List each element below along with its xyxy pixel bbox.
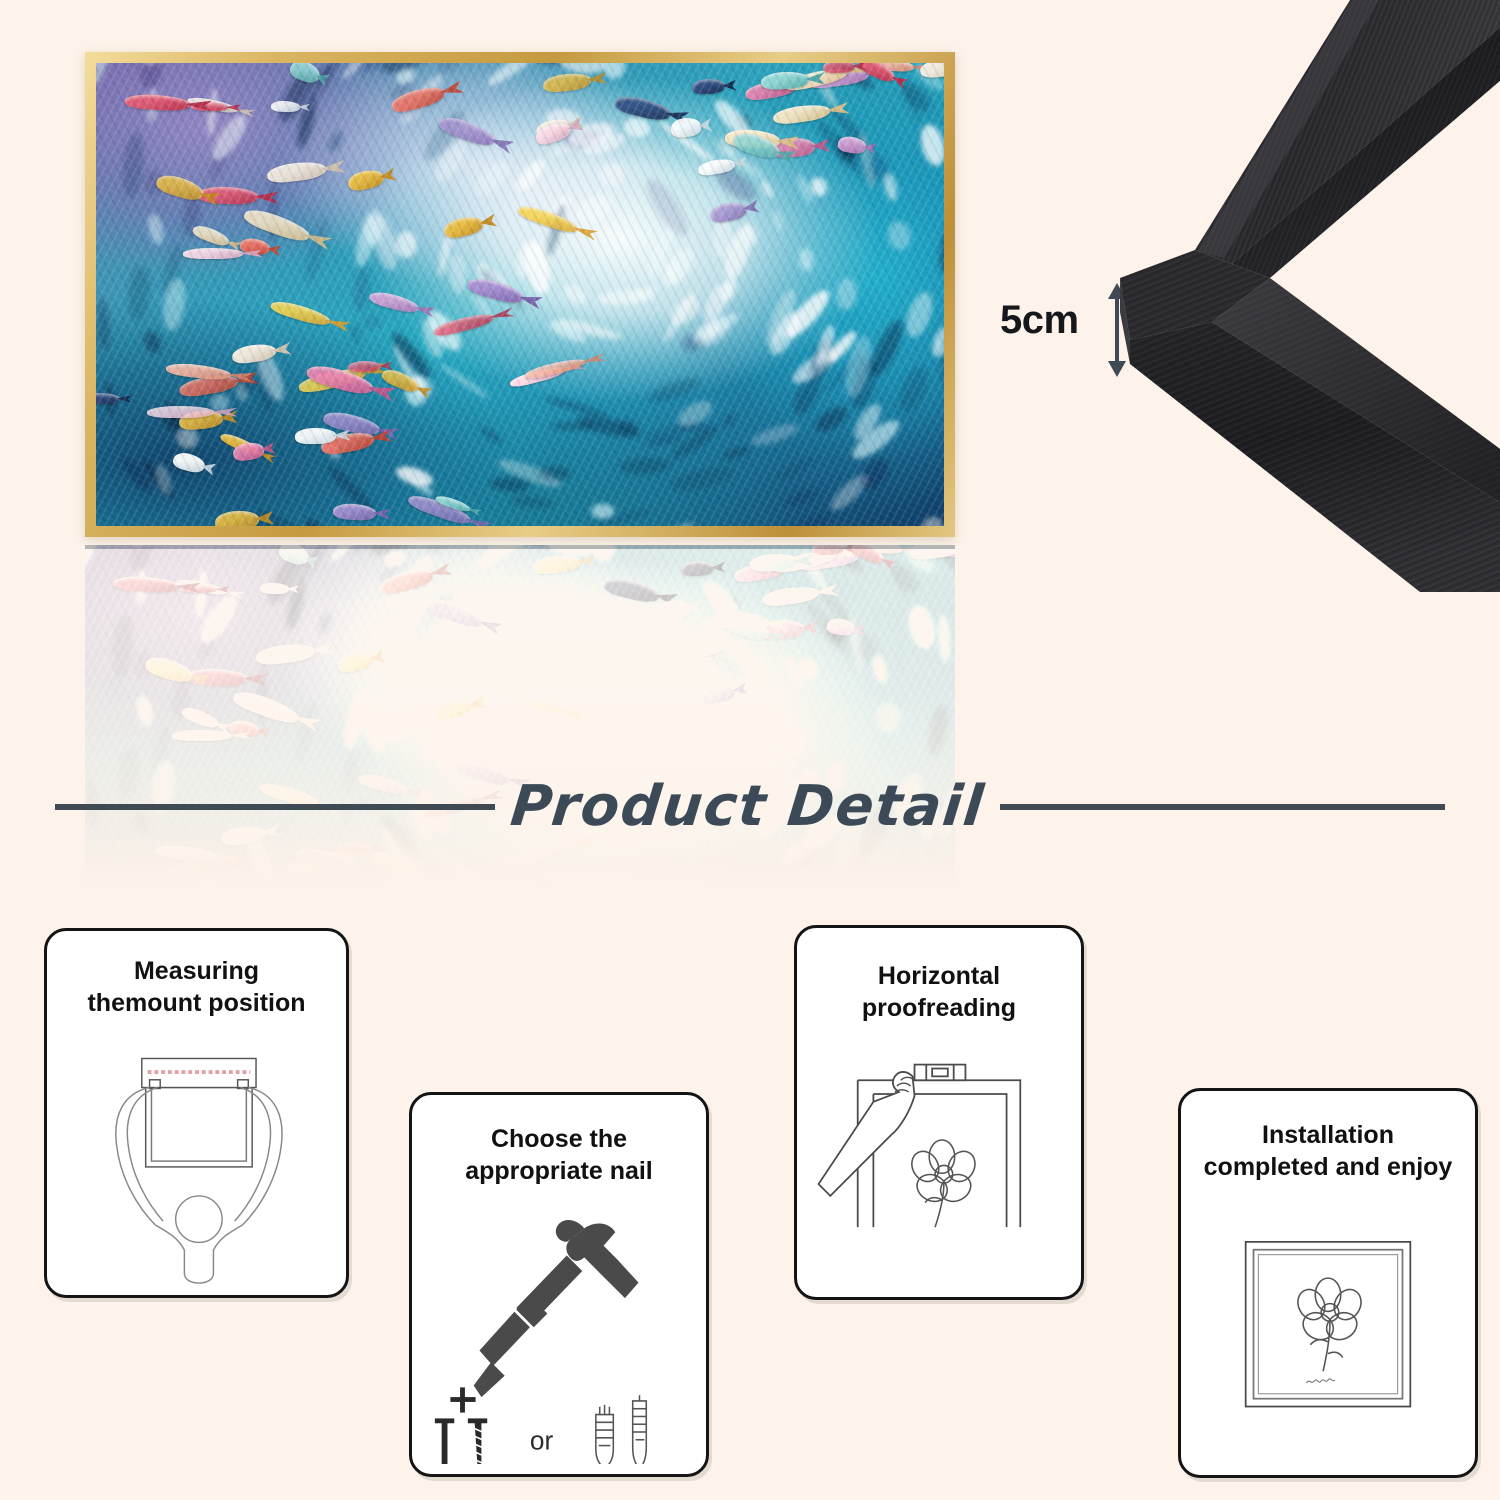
canvas-texture: [96, 63, 944, 526]
instruction-card-title: Installation completed and enjoy: [1181, 1091, 1475, 1183]
framed-flower-artwork-icon: [1181, 1203, 1475, 1465]
artwork-canvas: [96, 63, 944, 526]
framed-artwork: [85, 52, 955, 537]
heading-rule-left: [55, 804, 495, 810]
hero-product-section: 5cm: [0, 0, 1500, 900]
page-title: Product Detail: [508, 779, 987, 835]
instruction-card-title: Horizontal proofreading: [797, 928, 1081, 1024]
instruction-card-title: Choose the appropriate nail: [412, 1095, 706, 1187]
instruction-card-title: Measuring themount position: [47, 931, 346, 1019]
person-measuring-frame-icon: [47, 1043, 346, 1285]
black-wood-frame-corner: [1120, 0, 1500, 592]
hand-with-level-on-frame-icon: [797, 1040, 1081, 1287]
instruction-card-proofreading: Horizontal proofreading: [794, 925, 1084, 1300]
instruction-card-nail: Choose the appropriate nail: [409, 1092, 709, 1477]
product-detail-heading: Product Detail: [0, 772, 1500, 842]
heading-rule-right: [1000, 804, 1445, 810]
depth-value-label: 5cm: [1000, 298, 1079, 343]
instruction-card-completed: Installation completed and enjoy: [1178, 1088, 1478, 1478]
instruction-card-measuring: Measuring themount position: [44, 928, 349, 1298]
hammer-and-nails-icon: or: [412, 1207, 706, 1464]
or-separator-label: or: [530, 1425, 554, 1455]
